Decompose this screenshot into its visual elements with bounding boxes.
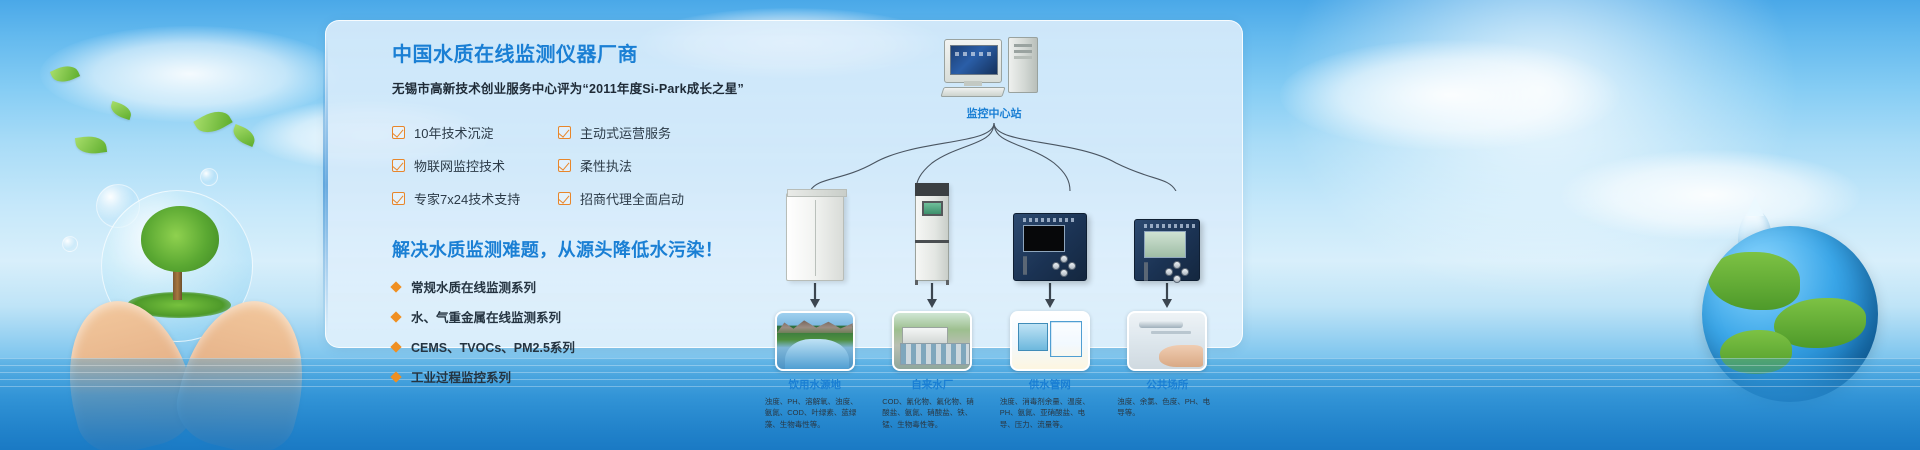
feature-item[interactable]: 物联网监控技术 — [392, 156, 554, 175]
panel-lcd-shape — [1023, 225, 1065, 252]
cabinet-shape — [786, 193, 844, 281]
column-analyzer-icon — [874, 179, 992, 281]
column-display-shape — [922, 201, 943, 216]
leaf-icon — [193, 105, 232, 139]
monitoring-center-node[interactable]: 监控中心站 — [942, 37, 1046, 121]
leaf-icon — [50, 61, 80, 86]
content-card: 中国水质在线监测仪器厂商 无锡市高新技术创业服务中心评为“2011年度Si-Pa… — [325, 20, 1243, 348]
list-item[interactable]: CEMS、TVOCs、PM2.5系列 — [392, 337, 752, 356]
diamond-bullet-icon — [390, 371, 401, 382]
list-item[interactable]: 工业过程监控系列 — [392, 367, 752, 386]
panel-brand-shape — [1144, 224, 1196, 228]
diamond-bullet-icon — [390, 311, 401, 322]
series-label: 常规水质在线监测系列 — [411, 277, 536, 296]
panel-dpad-shape — [1052, 255, 1076, 277]
series-label: 工业过程监控系列 — [411, 367, 511, 386]
tree-canopy-icon — [141, 206, 219, 272]
pc-monitor-shape — [944, 39, 1002, 83]
point-description: COD、氰化物、氟化物、硝酸盐、氨氮、硝酸盐、铁、锰、生物毒性等。 — [880, 396, 984, 430]
monitoring-point[interactable]: 自来水厂 COD、氰化物、氟化物、硝酸盐、氨氮、硝酸盐、铁、锰、生物毒性等。 — [874, 179, 992, 430]
column-shape — [915, 183, 949, 281]
feature-label: 柔性执法 — [580, 156, 632, 175]
page-title: 中国水质在线监测仪器厂商 — [392, 43, 752, 67]
feature-label: 招商代理全面启动 — [580, 189, 684, 208]
pc-screen-shape — [950, 45, 998, 75]
faucet-handwash-photo — [1127, 311, 1207, 371]
down-arrow-icon — [756, 281, 874, 311]
monitoring-point[interactable]: 公共场所 浊度、余氯、色度、PH、电导等。 — [1109, 179, 1227, 430]
point-description: 浊度、PH、溶解氧、浊度、氨氮、COD、叶绿素、蓝绿藻、生物毒性等。 — [763, 396, 867, 430]
feature-checklist: 10年技术沉淀 主动式运营服务 物联网监控技术 柔性执法 专家7x24技术支持 — [392, 123, 752, 208]
river-source-photo — [775, 311, 855, 371]
pc-tower-shape — [1008, 37, 1038, 93]
series-label: 水、气重金属在线监测系列 — [411, 307, 561, 326]
feature-item[interactable]: 柔性执法 — [558, 156, 720, 175]
leaf-icon — [75, 134, 107, 156]
checkbox-icon — [392, 192, 405, 205]
water-quality-banner: 中国水质在线监测仪器厂商 无锡市高新技术创业服务中心评为“2011年度Si-Pa… — [0, 0, 1920, 450]
product-series-list: 常规水质在线监测系列 水、气重金属在线监测系列 CEMS、TVOCs、PM2.5… — [392, 277, 752, 386]
monitoring-point[interactable]: 供水管网 浊度、消毒剂余量、温度、PH、氨氮、亚硝酸盐、电导、压力、流量等。 — [991, 179, 1109, 430]
dpad-down-dot — [1060, 269, 1068, 277]
desktop-computer-icon — [942, 37, 1046, 99]
panel-shape — [1134, 219, 1200, 281]
checkbox-icon — [392, 159, 405, 172]
leaf-icon — [109, 101, 134, 120]
point-description: 浊度、余氯、色度、PH、电导等。 — [1115, 396, 1219, 419]
point-title: 饮用水源地 — [756, 377, 874, 392]
feature-label: 专家7x24技术支持 — [414, 189, 520, 208]
feature-item[interactable]: 招商代理全面启动 — [558, 189, 720, 208]
checkbox-icon — [558, 192, 571, 205]
feature-item[interactable]: 专家7x24技术支持 — [392, 189, 554, 208]
point-title: 公共场所 — [1109, 377, 1227, 392]
down-arrow-icon — [991, 281, 1109, 311]
series-label: CEMS、TVOCs、PM2.5系列 — [411, 337, 575, 356]
card-accent-bar — [323, 35, 328, 335]
pipe-network-schematic-photo — [1010, 311, 1090, 371]
feature-item[interactable]: 主动式运营服务 — [558, 123, 720, 142]
text-column: 中国水质在线监测仪器厂商 无锡市高新技术创业服务中心评为“2011年度Si-Pa… — [392, 43, 752, 397]
panel-shape — [1013, 213, 1087, 281]
cloud-icon — [1560, 150, 1860, 240]
dpad-up-dot — [1173, 261, 1181, 269]
checkbox-icon — [558, 159, 571, 172]
pc-stand-shape — [964, 81, 982, 86]
down-arrow-icon — [1109, 281, 1227, 311]
list-item[interactable]: 常规水质在线监测系列 — [392, 277, 752, 296]
panel-instrument-small-icon — [1109, 179, 1227, 281]
dpad-right-dot — [1181, 268, 1189, 276]
system-topology-diagram: 监控中心站 — [756, 31, 1226, 361]
panel-buttons-group — [1144, 263, 1148, 281]
dpad-right-dot — [1068, 262, 1076, 270]
section-title: 解决水质监测难题，从源头降低水污染！ — [392, 236, 752, 262]
pc-keyboard-shape — [940, 87, 1005, 97]
diamond-bullet-icon — [390, 341, 401, 352]
cabinet-analyzer-icon — [756, 179, 874, 281]
feature-label: 主动式运营服务 — [580, 123, 671, 142]
monitoring-point[interactable]: 饮用水源地 浊度、PH、溶解氧、浊度、氨氮、COD、叶绿素、蓝绿藻、生物毒性等。 — [756, 179, 874, 430]
landmass-shape — [1708, 252, 1800, 310]
panel-buttons-group — [1023, 257, 1027, 275]
cloud-icon — [1280, 40, 1620, 150]
panel-dpad-shape — [1165, 261, 1189, 283]
panel-brand-shape — [1023, 218, 1075, 222]
dpad-left-dot — [1165, 268, 1173, 276]
point-title: 自来水厂 — [874, 377, 992, 392]
panel-button-shape — [1025, 256, 1027, 275]
panel-button-shape — [1146, 262, 1148, 281]
column-legs-shape — [915, 280, 949, 285]
dpad-left-dot — [1052, 262, 1060, 270]
dpad-up-dot — [1060, 255, 1068, 263]
cloud-icon — [40, 26, 340, 122]
checkbox-icon — [392, 126, 405, 139]
column-cap-shape — [915, 183, 949, 196]
panel-instrument-icon — [991, 179, 1109, 281]
monitoring-points: 饮用水源地 浊度、PH、溶解氧、浊度、氨氮、COD、叶绿素、蓝绿藻、生物毒性等。 — [756, 179, 1226, 430]
column-divider-shape — [915, 240, 949, 243]
sun-glow — [1280, 0, 1800, 300]
point-description: 浊度、消毒剂余量、温度、PH、氨氮、亚硝酸盐、电导、压力、流量等。 — [998, 396, 1102, 430]
page-subtitle: 无锡市高新技术创业服务中心评为“2011年度Si-Park成长之星” — [392, 78, 752, 97]
dpad-down-dot — [1173, 275, 1181, 283]
feature-label: 物联网监控技术 — [414, 156, 505, 175]
list-item[interactable]: 水、气重金属在线监测系列 — [392, 307, 752, 326]
feature-item[interactable]: 10年技术沉淀 — [392, 123, 554, 142]
leaf-icon — [230, 124, 258, 147]
checkbox-icon — [558, 126, 571, 139]
diamond-bullet-icon — [390, 281, 401, 292]
panel-lcd-shape — [1144, 231, 1186, 258]
water-plant-photo — [892, 311, 972, 371]
feature-label: 10年技术沉淀 — [414, 123, 493, 142]
down-arrow-icon — [874, 281, 992, 311]
point-title: 供水管网 — [991, 377, 1109, 392]
